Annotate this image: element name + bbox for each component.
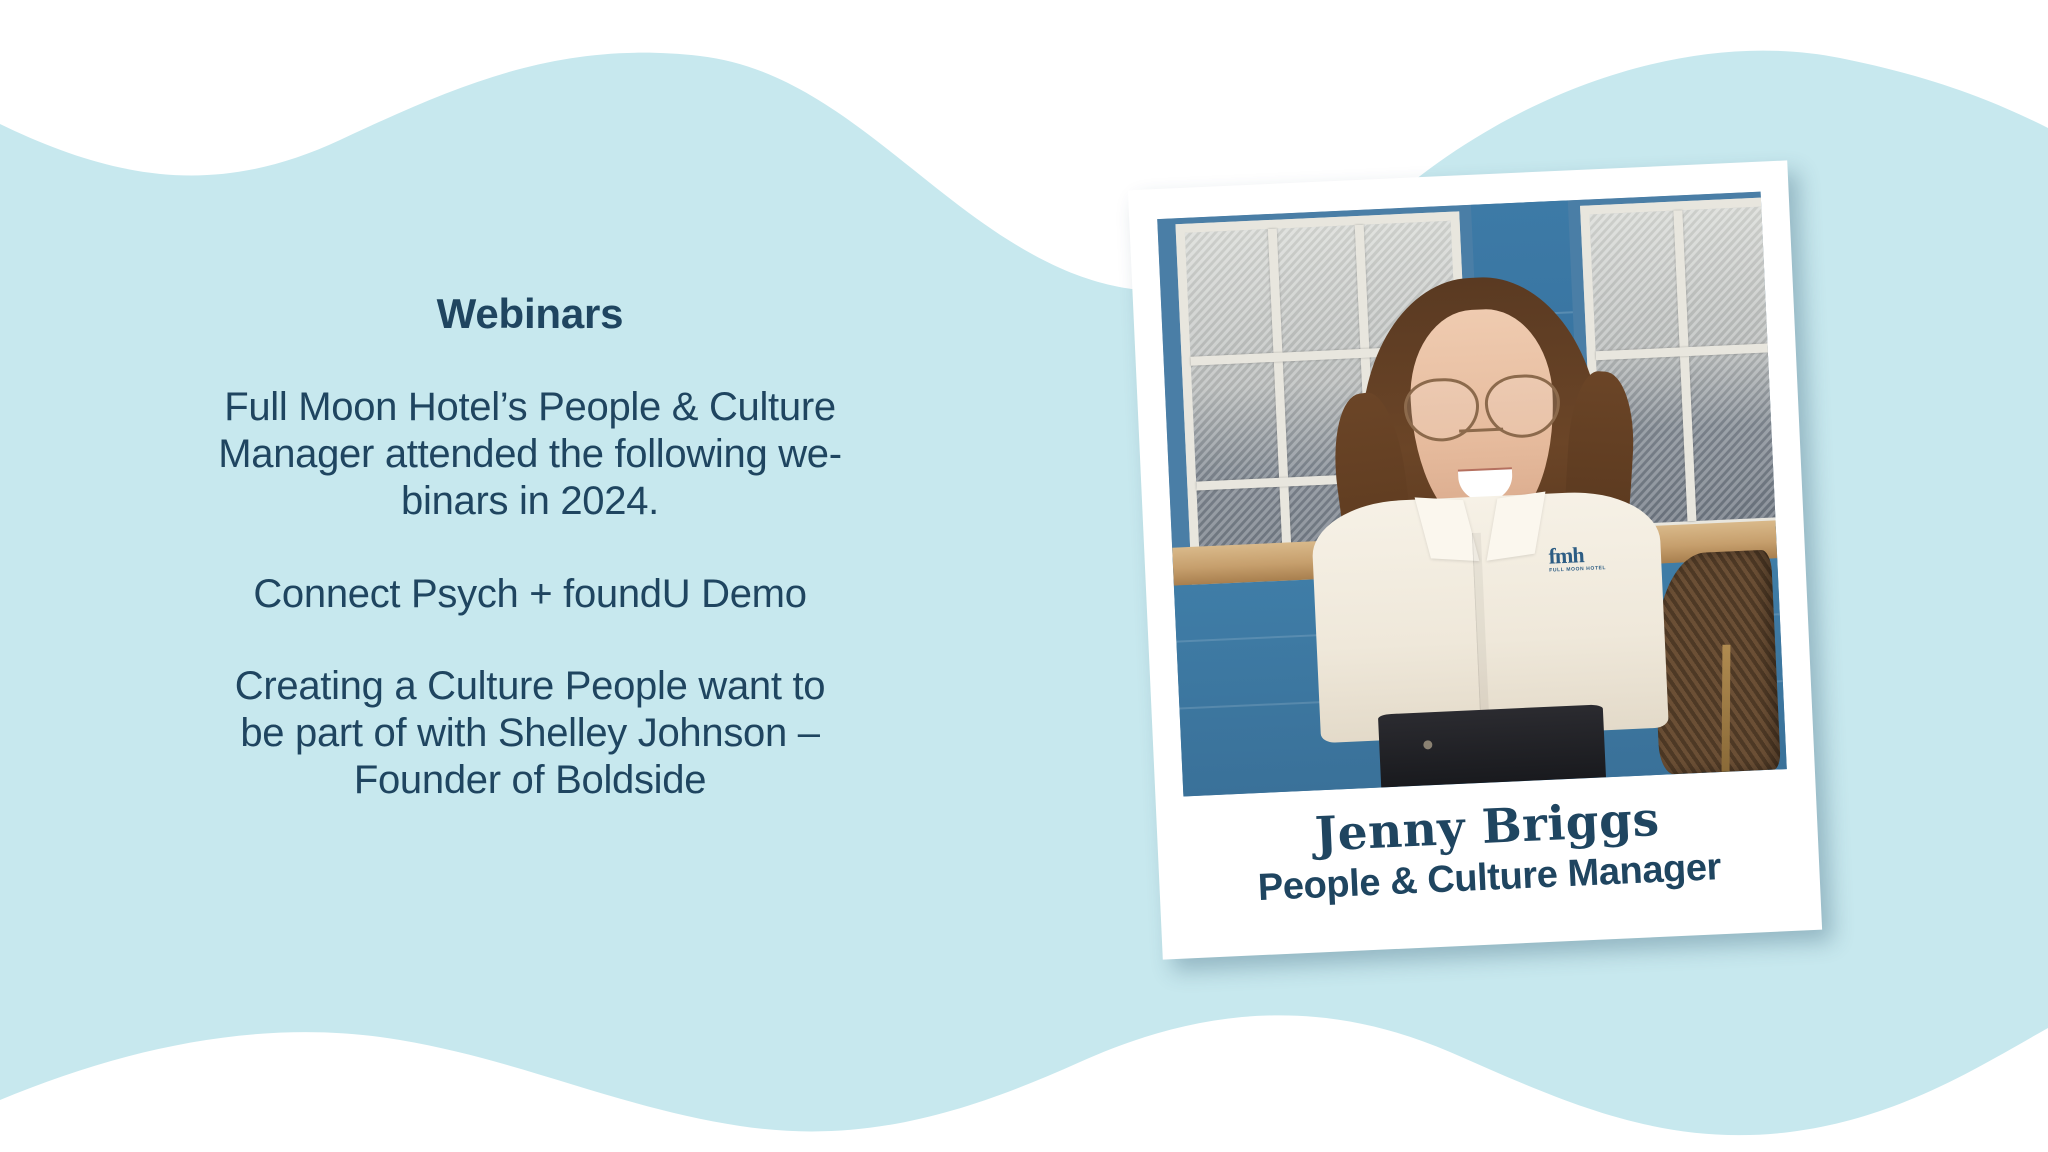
slide-canvas: Webinars Full Moon Hotel’s People & Cult… [0, 0, 2048, 1152]
person-pants [1378, 705, 1606, 788]
pants-button [1423, 740, 1432, 749]
photo-frame: fmh FULL MOON HOTEL [1157, 192, 1787, 797]
photo-chair-leg [1721, 645, 1730, 772]
shirt-logo-fmh: fmh FULL MOON HOTEL [1548, 543, 1612, 593]
text-column: Webinars Full Moon Hotel’s People & Cult… [120, 290, 940, 804]
paragraph-webinar-intro: Full Moon Hotel’s People & Culture Manag… [120, 384, 940, 524]
polaroid-caption: Jenny Briggs People & Culture Manager [1156, 788, 1820, 915]
page-title: Webinars [120, 290, 940, 338]
portrait-photo: fmh FULL MOON HOTEL [1157, 192, 1787, 797]
polaroid-card-wrapper: fmh FULL MOON HOTEL Jenny Briggs People … [1145, 175, 1825, 965]
shirt-logo-mark: fmh [1548, 542, 1584, 569]
person-shirt [1310, 489, 1668, 744]
paragraph-webinar-item-1: Connect Psych + foundU Demo [120, 571, 940, 618]
shirt-logo-subtext: FULL MOON HOTEL [1549, 566, 1611, 574]
photo-person: fmh FULL MOON HOTEL [1293, 254, 1679, 790]
paragraph-webinar-item-2: Creating a Culture People want to be par… [120, 663, 940, 803]
polaroid-card: fmh FULL MOON HOTEL Jenny Briggs People … [1128, 160, 1822, 959]
glasses-lens-left [1403, 377, 1480, 444]
